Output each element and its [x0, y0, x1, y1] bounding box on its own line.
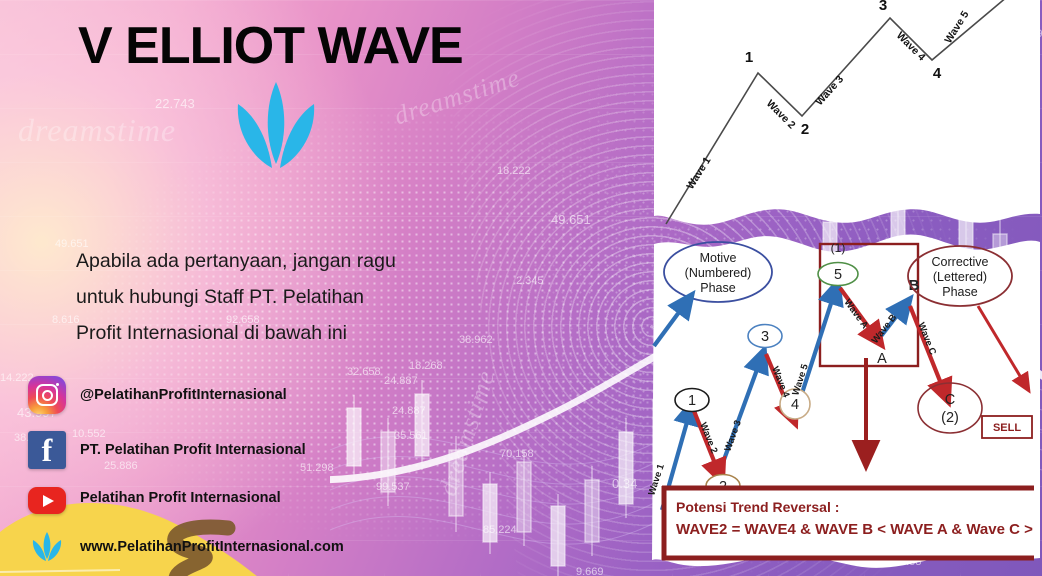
node-3-label: 3 [761, 329, 769, 345]
price-label: 99.537 [376, 481, 410, 493]
price-label: 24.887 [392, 405, 426, 417]
node-c-label: C [945, 392, 955, 408]
contact-label-facebook: PT. Pelatihan Profit Internasional [80, 442, 306, 458]
node-5-super: (1) [831, 241, 846, 255]
price-label: 49.651 [551, 212, 591, 227]
wave-peak-3: 3 [879, 0, 887, 14]
price-label: 70.158 [500, 448, 534, 460]
callout-line-1: Potensi Trend Reversal : [676, 499, 839, 515]
body-line-2: untuk hubungi Staff PT. Pelatihan [76, 279, 516, 315]
watermark-1: dreamstime [18, 112, 176, 149]
price-label: 9.669 [576, 566, 604, 576]
price-label: 85.224 [483, 524, 517, 536]
node-5-label: 5 [834, 267, 842, 283]
wave-peak-2: 2 [801, 121, 809, 138]
corrective-line-1: Corrective [932, 255, 989, 269]
watermark-3: dreamstime [433, 366, 502, 499]
price-label: 32.658 [347, 366, 381, 378]
facebook-icon[interactable]: f [28, 431, 66, 469]
youtube-icon[interactable] [28, 487, 66, 514]
body-copy: Apabila ada pertanyaan, jangan ragu untu… [76, 243, 516, 351]
node-1-label: 1 [688, 393, 696, 409]
contact-website[interactable]: www.PelatihanProfitInternasional.com [28, 528, 344, 566]
elliott-impulse-wave-panel: 1 2 3 4 5 Wave 1 Wave 2 Wave 3 Wave 4 Wa… [652, 0, 1042, 232]
callout-line-2: WAVE2 = WAVE4 & WAVE B < WAVE A & Wave C… [676, 521, 1033, 538]
node-4-label: 4 [791, 397, 799, 413]
price-label: 2.345 [516, 275, 544, 287]
wave-peak-5: 5 [1008, 0, 1016, 2]
sell-tag: SELL [982, 416, 1032, 438]
contact-youtube[interactable]: Pelatihan Profit Internasional [28, 482, 281, 514]
contact-label-instagram: @PelatihanProfitInternasional [80, 387, 287, 403]
contact-label-youtube: Pelatihan Profit Internasional [80, 490, 281, 506]
price-label: 24.887 [384, 375, 418, 387]
corrective-line-3: Phase [942, 285, 977, 299]
price-label: 0.34 [612, 476, 637, 491]
contact-instagram[interactable]: @PelatihanProfitInternasional [28, 376, 287, 414]
price-label: 22.743 [155, 96, 195, 111]
slide-canvas: dreamstime dreamstime dreamstime dreamst… [0, 0, 1042, 576]
elliott-wave-phases-panel: 1 2 3 4 5 (1) A B C (2) Motive (Numbered… [648, 228, 1042, 576]
motive-line-2: (Numbered) [685, 266, 752, 280]
price-label: 35.561 [394, 430, 428, 442]
wave-peak-4: 4 [933, 65, 942, 82]
node-a-label: A [877, 351, 887, 367]
motive-line-3: Phase [700, 281, 735, 295]
corrective-line-2: (Lettered) [933, 270, 987, 284]
reversal-callout: Potensi Trend Reversal : WAVE2 = WAVE4 &… [662, 486, 1034, 560]
price-label: 18.222 [497, 165, 531, 177]
contact-facebook[interactable]: f PT. Pelatihan Profit Internasional [28, 431, 306, 469]
lotus-logo [222, 78, 330, 190]
instagram-icon[interactable] [28, 376, 66, 414]
page-title: V ELLIOT WAVE [78, 16, 463, 76]
wave-peak-1: 1 [745, 49, 753, 66]
contact-label-website: www.PelatihanProfitInternasional.com [80, 539, 344, 555]
motive-line-1: Motive [700, 251, 737, 265]
body-line-3: Profit Internasional di bawah ini [76, 315, 516, 351]
node-c-sub: (2) [941, 410, 959, 426]
price-label: 18.268 [409, 360, 443, 372]
sell-label: SELL [993, 422, 1021, 434]
lotus-icon[interactable] [28, 528, 66, 566]
body-line-1: Apabila ada pertanyaan, jangan ragu [76, 243, 516, 279]
